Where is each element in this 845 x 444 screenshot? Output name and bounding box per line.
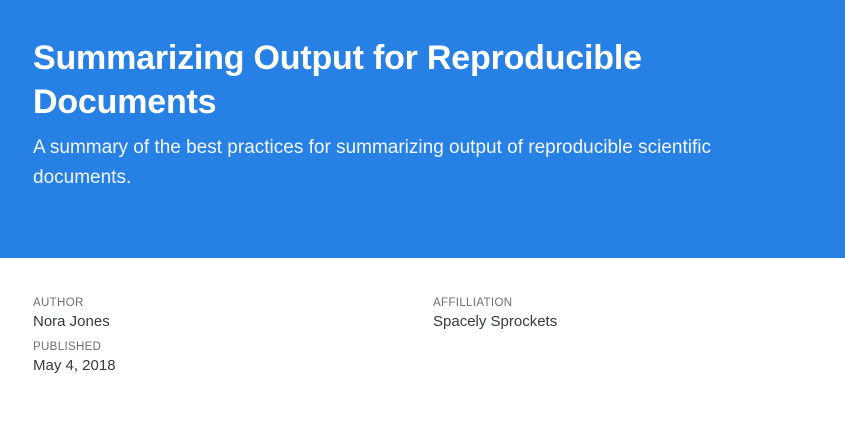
- metadata-field-affiliation: AFFILLIATION Spacely Sprockets: [433, 296, 557, 333]
- published-label: PUBLISHED: [33, 340, 116, 355]
- metadata-field-published: PUBLISHED May 4, 2018: [33, 340, 116, 377]
- affiliation-value: Spacely Sprockets: [433, 311, 557, 333]
- page-title: Summarizing Output for Reproducible Docu…: [33, 36, 733, 124]
- affiliation-label: AFFILLIATION: [433, 296, 557, 311]
- published-value: May 4, 2018: [33, 355, 116, 377]
- affiliation-column: AFFILLIATION Spacely Sprockets: [433, 296, 557, 333]
- document-page: Summarizing Output for Reproducible Docu…: [0, 0, 845, 444]
- page-subtitle: A summary of the best practices for summ…: [33, 133, 808, 193]
- author-column: AUTHOR Nora Jones PUBLISHED May 4, 2018: [33, 296, 116, 377]
- author-value: Nora Jones: [33, 311, 116, 333]
- metadata-field-author: AUTHOR Nora Jones: [33, 296, 116, 333]
- metadata-columns: AUTHOR Nora Jones PUBLISHED May 4, 2018 …: [33, 296, 812, 444]
- title-banner: Summarizing Output for Reproducible Docu…: [0, 0, 845, 258]
- document-metadata: AUTHOR Nora Jones PUBLISHED May 4, 2018 …: [0, 258, 845, 444]
- author-label: AUTHOR: [33, 296, 116, 311]
